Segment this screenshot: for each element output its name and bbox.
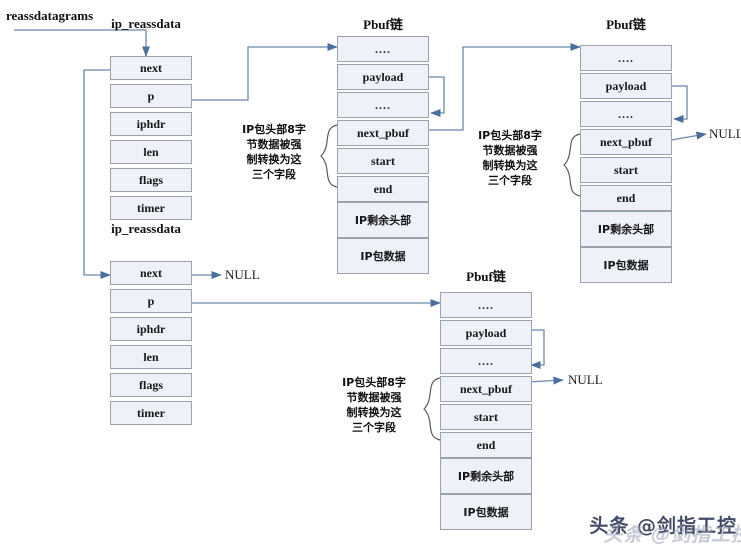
struct-title: ip_reassdata — [100, 221, 192, 237]
field-len[interactable]: len — [110, 345, 192, 369]
brace-pbuf3 — [424, 378, 440, 440]
wire-pbuf2-payload-loop — [671, 86, 687, 119]
diagram-canvas: reassdatagrams ip_reassdata next p iphdr… — [0, 0, 741, 540]
field-payload[interactable]: payload — [580, 73, 672, 99]
field-flags[interactable]: flags — [110, 168, 192, 192]
field-p[interactable]: p — [110, 289, 192, 313]
struct-pbuf-chain-1: Pbuf链 .... payload .... next_pbuf start … — [337, 36, 429, 266]
field-dots-mid[interactable]: .... — [337, 92, 429, 118]
field-ip-packet-data[interactable]: IP包数据 — [440, 494, 532, 530]
wire-pbuf2-next-to-null — [671, 134, 706, 140]
field-payload[interactable]: payload — [337, 64, 429, 90]
null-label-pbuf3-next: NULL — [568, 372, 603, 388]
struct-pbuf-chain-2: Pbuf链 .... payload .... next_pbuf start … — [580, 36, 672, 266]
field-dots-mid[interactable]: .... — [580, 101, 672, 127]
root-pointer-label: reassdatagrams — [6, 8, 93, 24]
field-timer[interactable]: timer — [110, 196, 192, 220]
field-len[interactable]: len — [110, 140, 192, 164]
brace-pbuf1 — [321, 125, 337, 187]
note-line: 制转换为这 — [328, 405, 420, 420]
note-line: 制转换为这 — [464, 158, 556, 173]
field-flags[interactable]: flags — [110, 373, 192, 397]
note-line: 节数据被强 — [328, 390, 420, 405]
field-end[interactable]: end — [440, 432, 532, 458]
field-iphdr[interactable]: iphdr — [110, 112, 192, 136]
annotation-note-2: IP包头部8字 节数据被强 制转换为这 三个字段 — [464, 128, 556, 188]
note-line: 制转换为这 — [228, 152, 320, 167]
struct-title: Pbuf链 — [580, 14, 672, 33]
field-ip-packet-data[interactable]: IP包数据 — [580, 247, 672, 283]
field-ip-remaining-header[interactable]: IP剩余头部 — [440, 458, 532, 494]
note-line: IP包头部8字 — [328, 375, 420, 390]
field-start[interactable]: start — [337, 148, 429, 174]
field-dots-top[interactable]: .... — [337, 36, 429, 62]
field-dots-mid[interactable]: .... — [440, 348, 532, 374]
watermark: 头条 @剑指工控 头条 @剑指工控 — [589, 511, 737, 538]
null-label-pbuf2-next: NULL — [709, 126, 741, 142]
field-timer[interactable]: timer — [110, 401, 192, 425]
field-ip-remaining-header[interactable]: IP剩余头部 — [337, 202, 429, 238]
wire-reass1-p-to-pbuf1 — [186, 47, 337, 100]
struct-pbuf-chain-3: Pbuf链 .... payload .... next_pbuf start … — [440, 288, 532, 518]
wire-pbuf1-next-to-pbuf2 — [428, 47, 580, 130]
note-line: 三个字段 — [328, 420, 420, 435]
brace-pbuf2 — [564, 134, 580, 196]
annotation-note-3: IP包头部8字 节数据被强 制转换为这 三个字段 — [328, 375, 420, 435]
field-start[interactable]: start — [440, 404, 532, 430]
struct-title: ip_reassdata — [100, 16, 192, 32]
field-next-pbuf[interactable]: next_pbuf — [580, 129, 672, 155]
wire-pbuf3-next-to-null — [528, 380, 563, 382]
field-ip-remaining-header[interactable]: IP剩余头部 — [580, 211, 672, 247]
field-next-pbuf[interactable]: next_pbuf — [440, 376, 532, 402]
field-next[interactable]: next — [110, 261, 192, 285]
field-end[interactable]: end — [580, 185, 672, 211]
field-iphdr[interactable]: iphdr — [110, 317, 192, 341]
field-dots-top[interactable]: .... — [440, 292, 532, 318]
watermark-ghost: 头条 @剑指工控 — [603, 520, 741, 547]
struct-ip-reassdata-2: ip_reassdata next p iphdr len flags time… — [100, 241, 192, 431]
struct-title: Pbuf链 — [337, 14, 429, 33]
field-p[interactable]: p — [110, 84, 192, 108]
note-line: 三个字段 — [464, 173, 556, 188]
null-label-reass2-next: NULL — [225, 267, 260, 283]
wire-pbuf1-payload-loop — [428, 77, 444, 113]
annotation-note-1: IP包头部8字 节数据被强 制转换为这 三个字段 — [228, 122, 320, 182]
note-line: IP包头部8字 — [464, 128, 556, 143]
note-line: 节数据被强 — [464, 143, 556, 158]
field-ip-packet-data[interactable]: IP包数据 — [337, 238, 429, 274]
field-dots-top[interactable]: .... — [580, 45, 672, 71]
field-next[interactable]: next — [110, 56, 192, 80]
note-line: IP包头部8字 — [228, 122, 320, 137]
field-end[interactable]: end — [337, 176, 429, 202]
struct-ip-reassdata-1: ip_reassdata next p iphdr len flags time… — [100, 36, 192, 226]
field-payload[interactable]: payload — [440, 320, 532, 346]
struct-title: Pbuf链 — [440, 266, 532, 285]
note-line: 节数据被强 — [228, 137, 320, 152]
field-start[interactable]: start — [580, 157, 672, 183]
note-line: 三个字段 — [228, 167, 320, 182]
field-next-pbuf[interactable]: next_pbuf — [337, 120, 429, 146]
